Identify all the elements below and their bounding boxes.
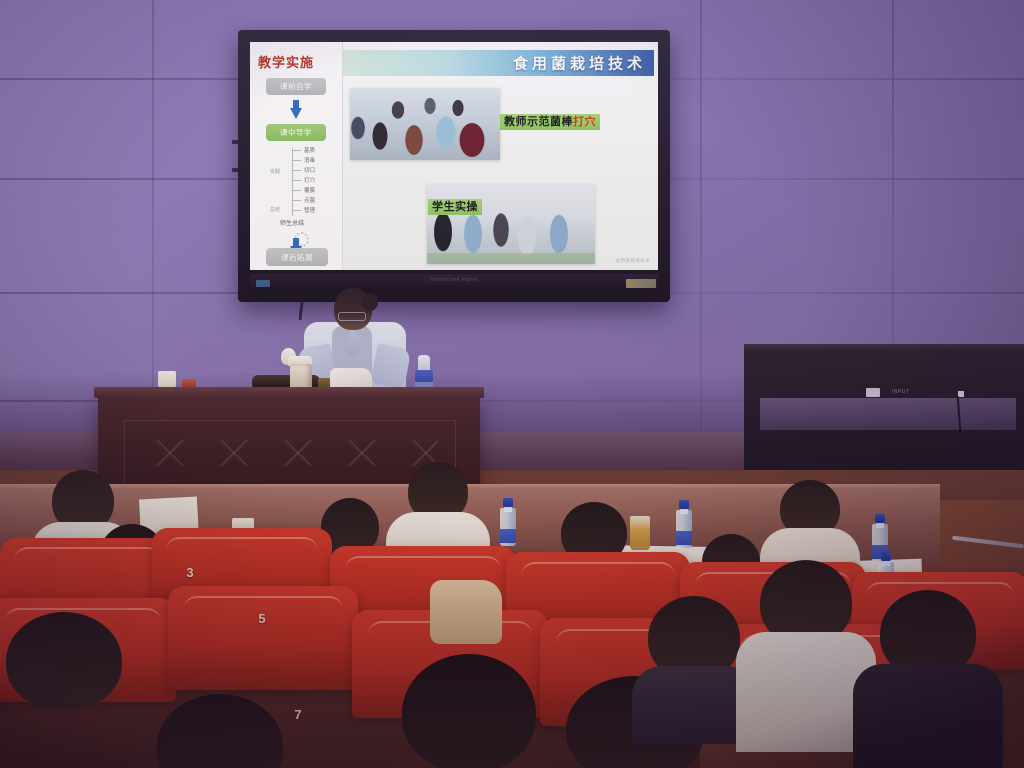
person-torso xyxy=(853,664,1003,768)
sidebar-step-pre-class: 课前自学 xyxy=(266,78,326,95)
presentation-slide: 食用菌栽培技术 教学实施 课前自学 课中导学 实践 总结 基质 消毒 xyxy=(250,42,658,270)
auditorium-chair[interactable]: 5 xyxy=(168,586,358,690)
water-bottle xyxy=(500,498,516,546)
seat-number-badge: 3 xyxy=(180,562,200,582)
tree-item-label: 切口 xyxy=(304,166,315,174)
slide-sidebar-heading: 教学实施 xyxy=(258,52,314,71)
slide-banner-title: 食用菌栽培技术 xyxy=(513,53,646,74)
audience-member-front xyxy=(396,654,542,768)
bottle-cap xyxy=(503,498,513,507)
slide-label-highlight: 打穴 xyxy=(573,115,596,128)
display-screen: 食用菌栽培技术 教学实施 课前自学 课中导学 实践 总结 基质 消毒 xyxy=(250,42,658,270)
slide-photo-teacher-demo xyxy=(350,88,500,160)
draped-jacket xyxy=(430,580,502,644)
sidebar-step-in-class: 课中导学 xyxy=(266,124,326,141)
audience-member-front xyxy=(152,694,288,768)
presenter-hair-bun xyxy=(362,294,378,311)
tree-item-label: 基质 xyxy=(304,146,315,154)
slide-watermark: 食用菌栽培技术 xyxy=(616,258,650,264)
audience-member-front xyxy=(636,596,752,736)
display-spec-badge xyxy=(626,279,656,288)
sidebar-process-tree: 实践 总结 基质 消毒 切口 打穴 覆膜 点菌 管理 xyxy=(272,146,334,222)
tree-group-label-2: 总结 xyxy=(270,206,280,213)
tree-item: 切口 xyxy=(292,170,332,171)
tree-item: 打穴 xyxy=(292,180,332,181)
tree-item-label: 消毒 xyxy=(304,156,315,164)
podium-chevron-decor xyxy=(138,440,438,466)
flow-arrow-down-icon xyxy=(290,108,302,119)
slide-banner: 食用菌栽培技术 xyxy=(342,50,654,76)
tree-item-label: 打穴 xyxy=(304,176,315,184)
tree-spine xyxy=(292,148,293,216)
av-panel-text: INPUT xyxy=(892,389,910,395)
display-brand-text: Interactive Panel xyxy=(430,277,477,283)
classroom-photo-scene: 食用菌栽培技术 教学实施 课前自学 课中导学 实践 总结 基质 消毒 xyxy=(0,0,1024,768)
audience-member-front xyxy=(742,560,870,740)
bottle-cap xyxy=(881,552,891,561)
display-brand-logo xyxy=(256,280,270,287)
sidebar-step-post-class: 课后拓展 xyxy=(266,248,328,266)
interactive-display[interactable]: 食用菌栽培技术 教学实施 课前自学 课中导学 实践 总结 基质 消毒 xyxy=(238,30,670,302)
tree-item: 点菌 xyxy=(292,200,332,201)
tree-item-label: 管理 xyxy=(304,206,315,214)
av-cabinet-opening xyxy=(760,398,1016,430)
seat-number-badge: 5 xyxy=(252,608,272,628)
av-port-icon xyxy=(958,391,964,397)
tree-item: 管理 xyxy=(292,210,332,211)
tree-item: 基质 xyxy=(292,150,332,151)
slide-photo-student-practice xyxy=(427,184,595,264)
audience-member-front xyxy=(0,612,128,732)
audience-member-front xyxy=(858,590,998,768)
photo-foreground-grass xyxy=(427,253,595,264)
bottle-label xyxy=(500,529,516,543)
person-head xyxy=(402,654,536,768)
person-head xyxy=(157,694,283,768)
bottle-cap xyxy=(679,500,689,509)
audience-draped-jacket xyxy=(424,570,508,648)
person-head xyxy=(6,612,122,710)
presenter-glasses xyxy=(338,312,366,321)
tree-item-label: 点菌 xyxy=(304,196,315,204)
slide-label-teacher-demo: 教师示范菌棒打穴 xyxy=(500,114,600,130)
tree-item: 覆膜 xyxy=(292,190,332,191)
tree-item-label: 覆膜 xyxy=(304,186,315,194)
slide-sidebar: 教学实施 课前自学 课中导学 实践 总结 基质 消毒 切口 打穴 覆膜 xyxy=(250,42,343,270)
slide-label-text: 学生实操 xyxy=(432,200,478,213)
spray-bottle-nozzle xyxy=(418,355,430,371)
slide-label-student-practice: 学生实操 xyxy=(428,199,482,215)
slide-label-text: 教师示范菌棒 xyxy=(504,115,573,128)
tree-group-label-1: 实践 xyxy=(270,168,280,175)
tree-item: 消毒 xyxy=(292,160,332,161)
seat-number-badge: 7 xyxy=(288,704,308,724)
av-panel-button[interactable] xyxy=(866,388,880,397)
sidebar-summary-label: 师生总结 xyxy=(280,218,304,227)
bottle-cap xyxy=(875,514,885,523)
podium-countertop xyxy=(94,387,484,398)
